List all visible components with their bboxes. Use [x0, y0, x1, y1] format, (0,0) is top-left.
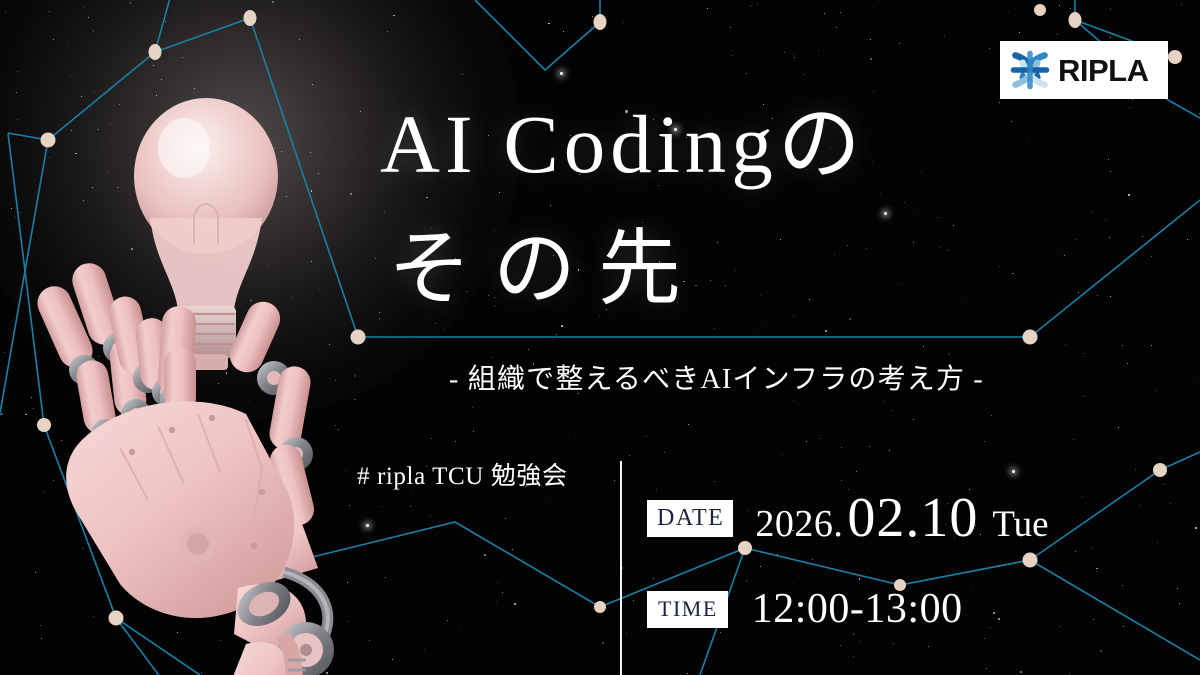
ripla-logo[interactable]: RIPLA [1000, 41, 1168, 99]
title-line-1: AI Codingの [380, 103, 866, 186]
date-weekday: Tue [992, 506, 1048, 543]
date-year: 2026. [755, 505, 843, 543]
subtitle: - 組織で整えるべきAIインフラの考え方 - [449, 366, 984, 394]
date-row: DATE 2026. 02.10 Tue [647, 490, 1049, 546]
content-layer: RIPLA AI Codingの その先 - 組織で整えるべきAIインフラの考え… [0, 0, 1200, 675]
title-line-2: その先 [388, 228, 703, 311]
hashtag: # ripla TCU 勉強会 [357, 464, 568, 489]
event-poster: RIPLA AI Codingの その先 - 組織で整えるべきAIインフラの考え… [0, 0, 1200, 675]
time-value: 12:00-13:00 [752, 588, 963, 630]
date-day: 02.10 [847, 490, 978, 546]
vertical-divider [620, 461, 622, 675]
logo-text: RIPLA [1058, 55, 1149, 86]
date-value: 2026. 02.10 Tue [755, 490, 1048, 546]
ripla-woven-mark [1008, 48, 1052, 92]
date-badge: DATE [647, 500, 733, 537]
time-badge: TIME [647, 591, 728, 628]
time-row: TIME 12:00-13:00 [647, 588, 963, 630]
